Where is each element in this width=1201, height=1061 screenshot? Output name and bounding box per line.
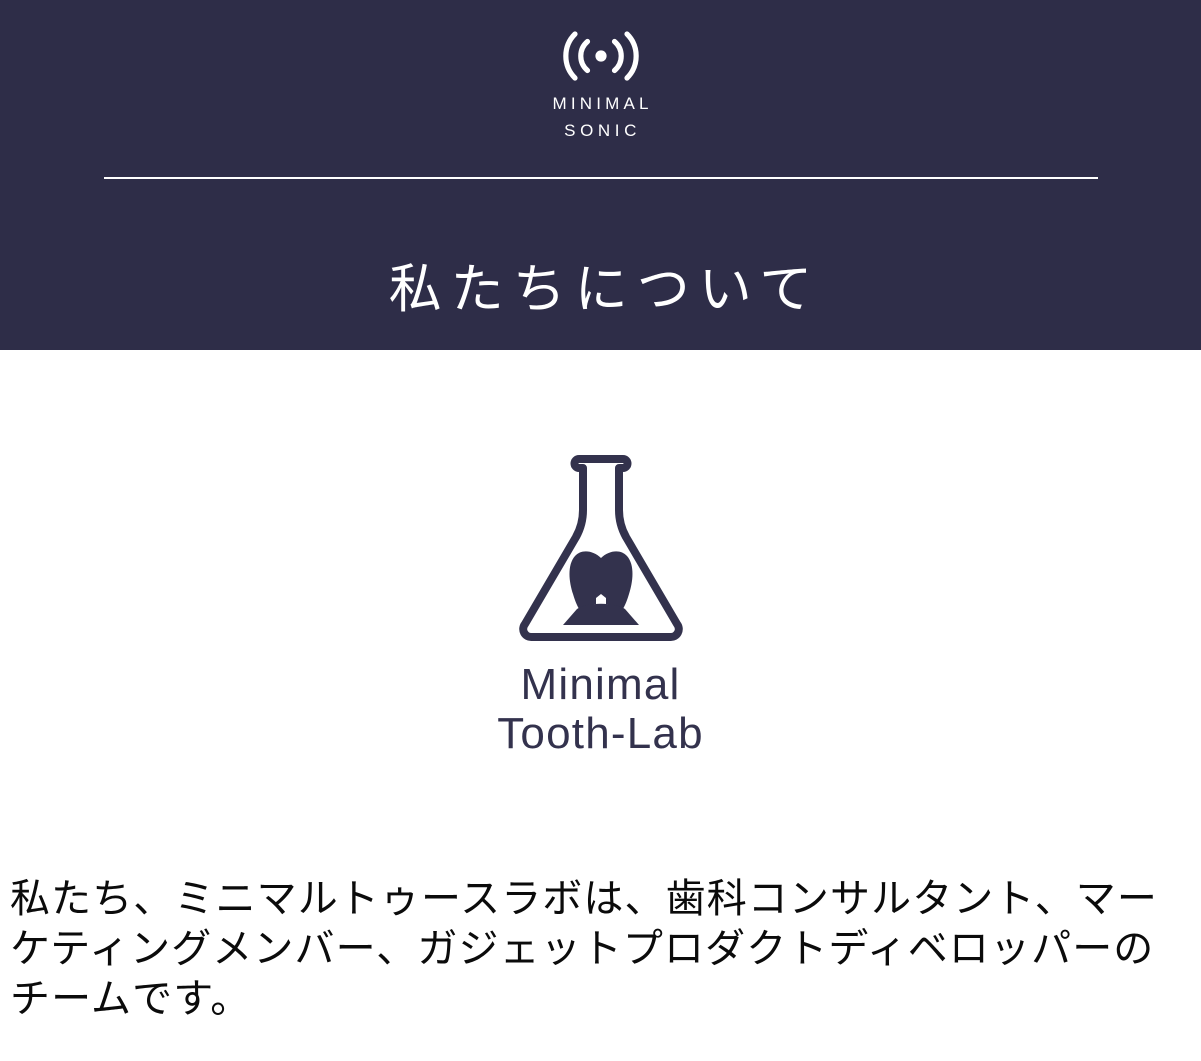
flask-tooth-icon	[501, 448, 701, 648]
sonic-wave-icon	[555, 28, 647, 84]
brand-lockup: MINIMAL SONIC	[0, 28, 1201, 144]
about-paragraph: 私たち、ミニマルトゥースラボは、歯科コンサルタント、マーケティングメンバー、ガジ…	[10, 874, 1192, 1024]
brand-name-line-1: MINIMAL	[552, 94, 652, 113]
header-divider-rule	[104, 177, 1098, 179]
page-header-band: MINIMAL SONIC 私たちについて	[0, 0, 1201, 350]
brand-name: MINIMAL SONIC	[548, 90, 652, 144]
lab-identity-block: Minimal Tooth-Lab	[0, 448, 1201, 758]
page-title: 私たちについて	[0, 255, 1201, 325]
brand-name-line-2: SONIC	[548, 117, 652, 144]
lab-name-line-1: Minimal	[521, 660, 681, 709]
lab-name: Minimal Tooth-Lab	[497, 660, 704, 758]
lab-name-line-2: Tooth-Lab	[497, 709, 704, 758]
